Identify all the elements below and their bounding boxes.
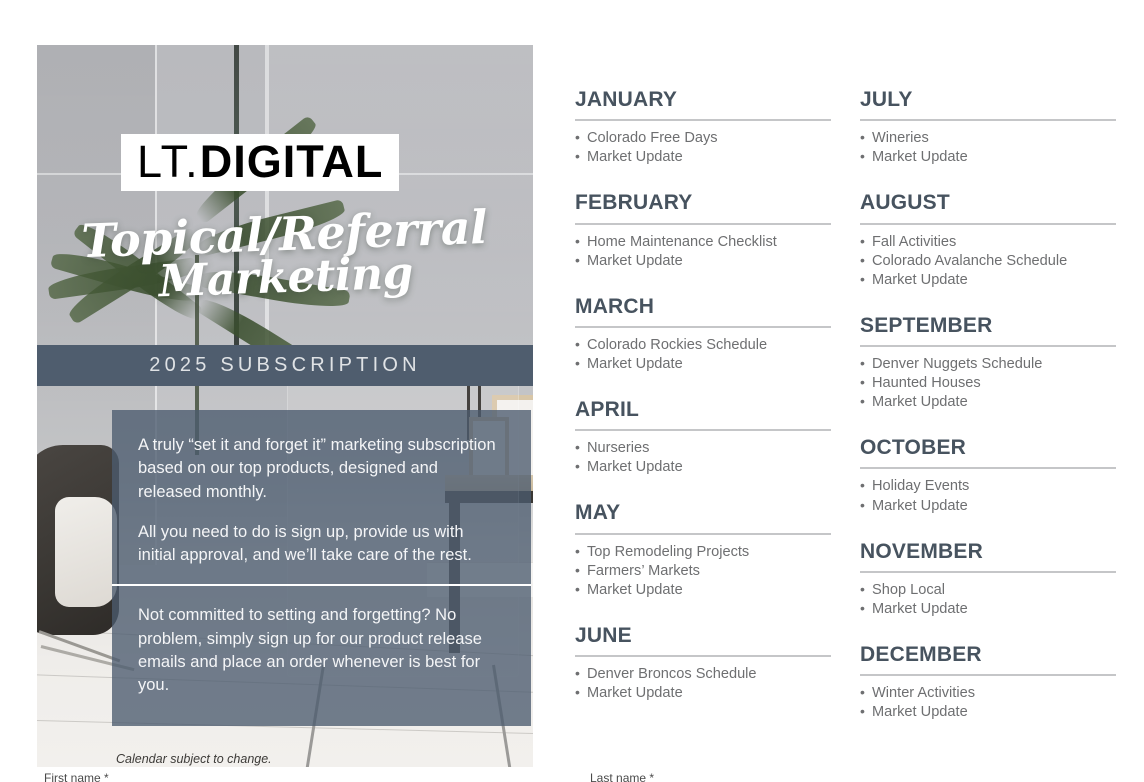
logo-light-text: LT. — [137, 136, 200, 187]
month-item-list: Holiday EventsMarket Update — [860, 477, 1116, 515]
month-item: Colorado Avalanche Schedule — [860, 252, 1116, 271]
month-item: Wineries — [860, 129, 1116, 148]
month-block: AUGUSTFall ActivitiesColorado Avalanche … — [860, 191, 1116, 289]
month-item: Holiday Events — [860, 477, 1116, 496]
poster-copy-panel: A truly “set it and forget it” marketing… — [112, 410, 531, 726]
month-item: Home Maintenance Checklist — [575, 233, 831, 252]
calendar-disclaimer: Calendar subject to change. — [116, 752, 272, 766]
month-divider — [860, 571, 1116, 573]
month-item-list: Home Maintenance ChecklistMarket Update — [575, 233, 831, 271]
poster-headline: Topical/Referral Marketing — [37, 204, 533, 307]
month-block: NOVEMBERShop LocalMarket Update — [860, 540, 1116, 619]
month-divider — [860, 119, 1116, 121]
month-block: OCTOBERHoliday EventsMarket Update — [860, 436, 1116, 515]
subscription-band: 2025 SUBSCRIPTION — [37, 345, 533, 386]
month-divider — [575, 655, 831, 657]
copy-paragraph-3: Not committed to setting and forgetting?… — [138, 604, 505, 697]
month-item: Market Update — [860, 703, 1116, 722]
month-item: Denver Nuggets Schedule — [860, 355, 1116, 374]
month-divider — [575, 429, 831, 431]
month-item: Market Update — [860, 271, 1116, 290]
month-item: Colorado Rockies Schedule — [575, 336, 831, 355]
month-divider — [575, 223, 831, 225]
month-divider — [860, 223, 1116, 225]
month-item: Nurseries — [575, 439, 831, 458]
month-item: Haunted Houses — [860, 374, 1116, 393]
footer-last-name-label: Last name * — [590, 772, 654, 782]
calendar-column-right: JULYWineriesMarket UpdateAUGUSTFall Acti… — [860, 88, 1116, 746]
month-block: MAYTop Remodeling ProjectsFarmers’ Marke… — [575, 501, 831, 599]
month-heading: MARCH — [575, 295, 831, 319]
month-item-list: Top Remodeling ProjectsFarmers’ MarketsM… — [575, 543, 831, 600]
month-item-list: Fall ActivitiesColorado Avalanche Schedu… — [860, 233, 1116, 290]
month-block: MARCHColorado Rockies ScheduleMarket Upd… — [575, 295, 831, 374]
month-item-list: NurseriesMarket Update — [575, 439, 831, 477]
subscription-band-text: 2025 SUBSCRIPTION — [149, 354, 420, 377]
month-heading: JANUARY — [575, 88, 831, 112]
copy-paragraph-1: A truly “set it and forget it” marketing… — [138, 434, 505, 504]
month-heading: OCTOBER — [860, 436, 1116, 460]
month-heading: APRIL — [575, 398, 831, 422]
month-item: Fall Activities — [860, 233, 1116, 252]
month-block: FEBRUARYHome Maintenance ChecklistMarket… — [575, 191, 831, 270]
month-item: Market Update — [860, 600, 1116, 619]
month-item: Winter Activities — [860, 684, 1116, 703]
month-item: Market Update — [575, 148, 831, 167]
month-block: APRILNurseriesMarket Update — [575, 398, 831, 477]
month-divider — [860, 345, 1116, 347]
month-item: Top Remodeling Projects — [575, 543, 831, 562]
month-divider — [860, 467, 1116, 469]
month-item-list: Colorado Free DaysMarket Update — [575, 129, 831, 167]
month-block: JUNEDenver Broncos ScheduleMarket Update — [575, 624, 831, 703]
month-block: JANUARYColorado Free DaysMarket Update — [575, 88, 831, 167]
month-item: Market Update — [575, 581, 831, 600]
calendar-column-left: JANUARYColorado Free DaysMarket UpdateFE… — [575, 88, 831, 727]
month-item: Colorado Free Days — [575, 129, 831, 148]
month-block: DECEMBERWinter ActivitiesMarket Update — [860, 643, 1116, 722]
month-item-list: Colorado Rockies ScheduleMarket Update — [575, 336, 831, 374]
copy-paragraph-2: All you need to do is sign up, provide u… — [138, 521, 505, 568]
month-item: Market Update — [575, 458, 831, 477]
month-item-list: Denver Broncos ScheduleMarket Update — [575, 665, 831, 703]
month-item-list: Shop LocalMarket Update — [860, 581, 1116, 619]
month-item: Denver Broncos Schedule — [575, 665, 831, 684]
month-item-list: WineriesMarket Update — [860, 129, 1116, 167]
month-item-list: Winter ActivitiesMarket Update — [860, 684, 1116, 722]
poster-panel: LT.DIGITAL Topical/Referral Marketing 20… — [37, 45, 533, 767]
month-heading: FEBRUARY — [575, 191, 831, 215]
month-heading: MAY — [575, 501, 831, 525]
month-heading: JULY — [860, 88, 1116, 112]
month-heading: NOVEMBER — [860, 540, 1116, 564]
month-heading: SEPTEMBER — [860, 314, 1116, 338]
footer-first-name-label: First name * — [44, 772, 109, 782]
logo-bold-text: DIGITAL — [200, 136, 384, 187]
month-item: Farmers’ Markets — [575, 562, 831, 581]
month-item: Shop Local — [860, 581, 1116, 600]
month-divider — [860, 674, 1116, 676]
month-heading: JUNE — [575, 624, 831, 648]
month-item: Market Update — [575, 355, 831, 374]
brand-logo: LT.DIGITAL — [121, 134, 399, 191]
month-divider — [575, 119, 831, 121]
month-item: Market Update — [575, 252, 831, 271]
month-item: Market Update — [860, 393, 1116, 412]
month-item: Market Update — [575, 684, 831, 703]
month-heading: DECEMBER — [860, 643, 1116, 667]
month-block: JULYWineriesMarket Update — [860, 88, 1116, 167]
month-item-list: Denver Nuggets ScheduleHaunted HousesMar… — [860, 355, 1116, 412]
month-heading: AUGUST — [860, 191, 1116, 215]
month-divider — [575, 326, 831, 328]
copy-divider — [112, 584, 531, 586]
month-item: Market Update — [860, 148, 1116, 167]
month-divider — [575, 533, 831, 535]
month-item: Market Update — [860, 497, 1116, 516]
pillow — [55, 497, 117, 607]
month-block: SEPTEMBERDenver Nuggets ScheduleHaunted … — [860, 314, 1116, 412]
